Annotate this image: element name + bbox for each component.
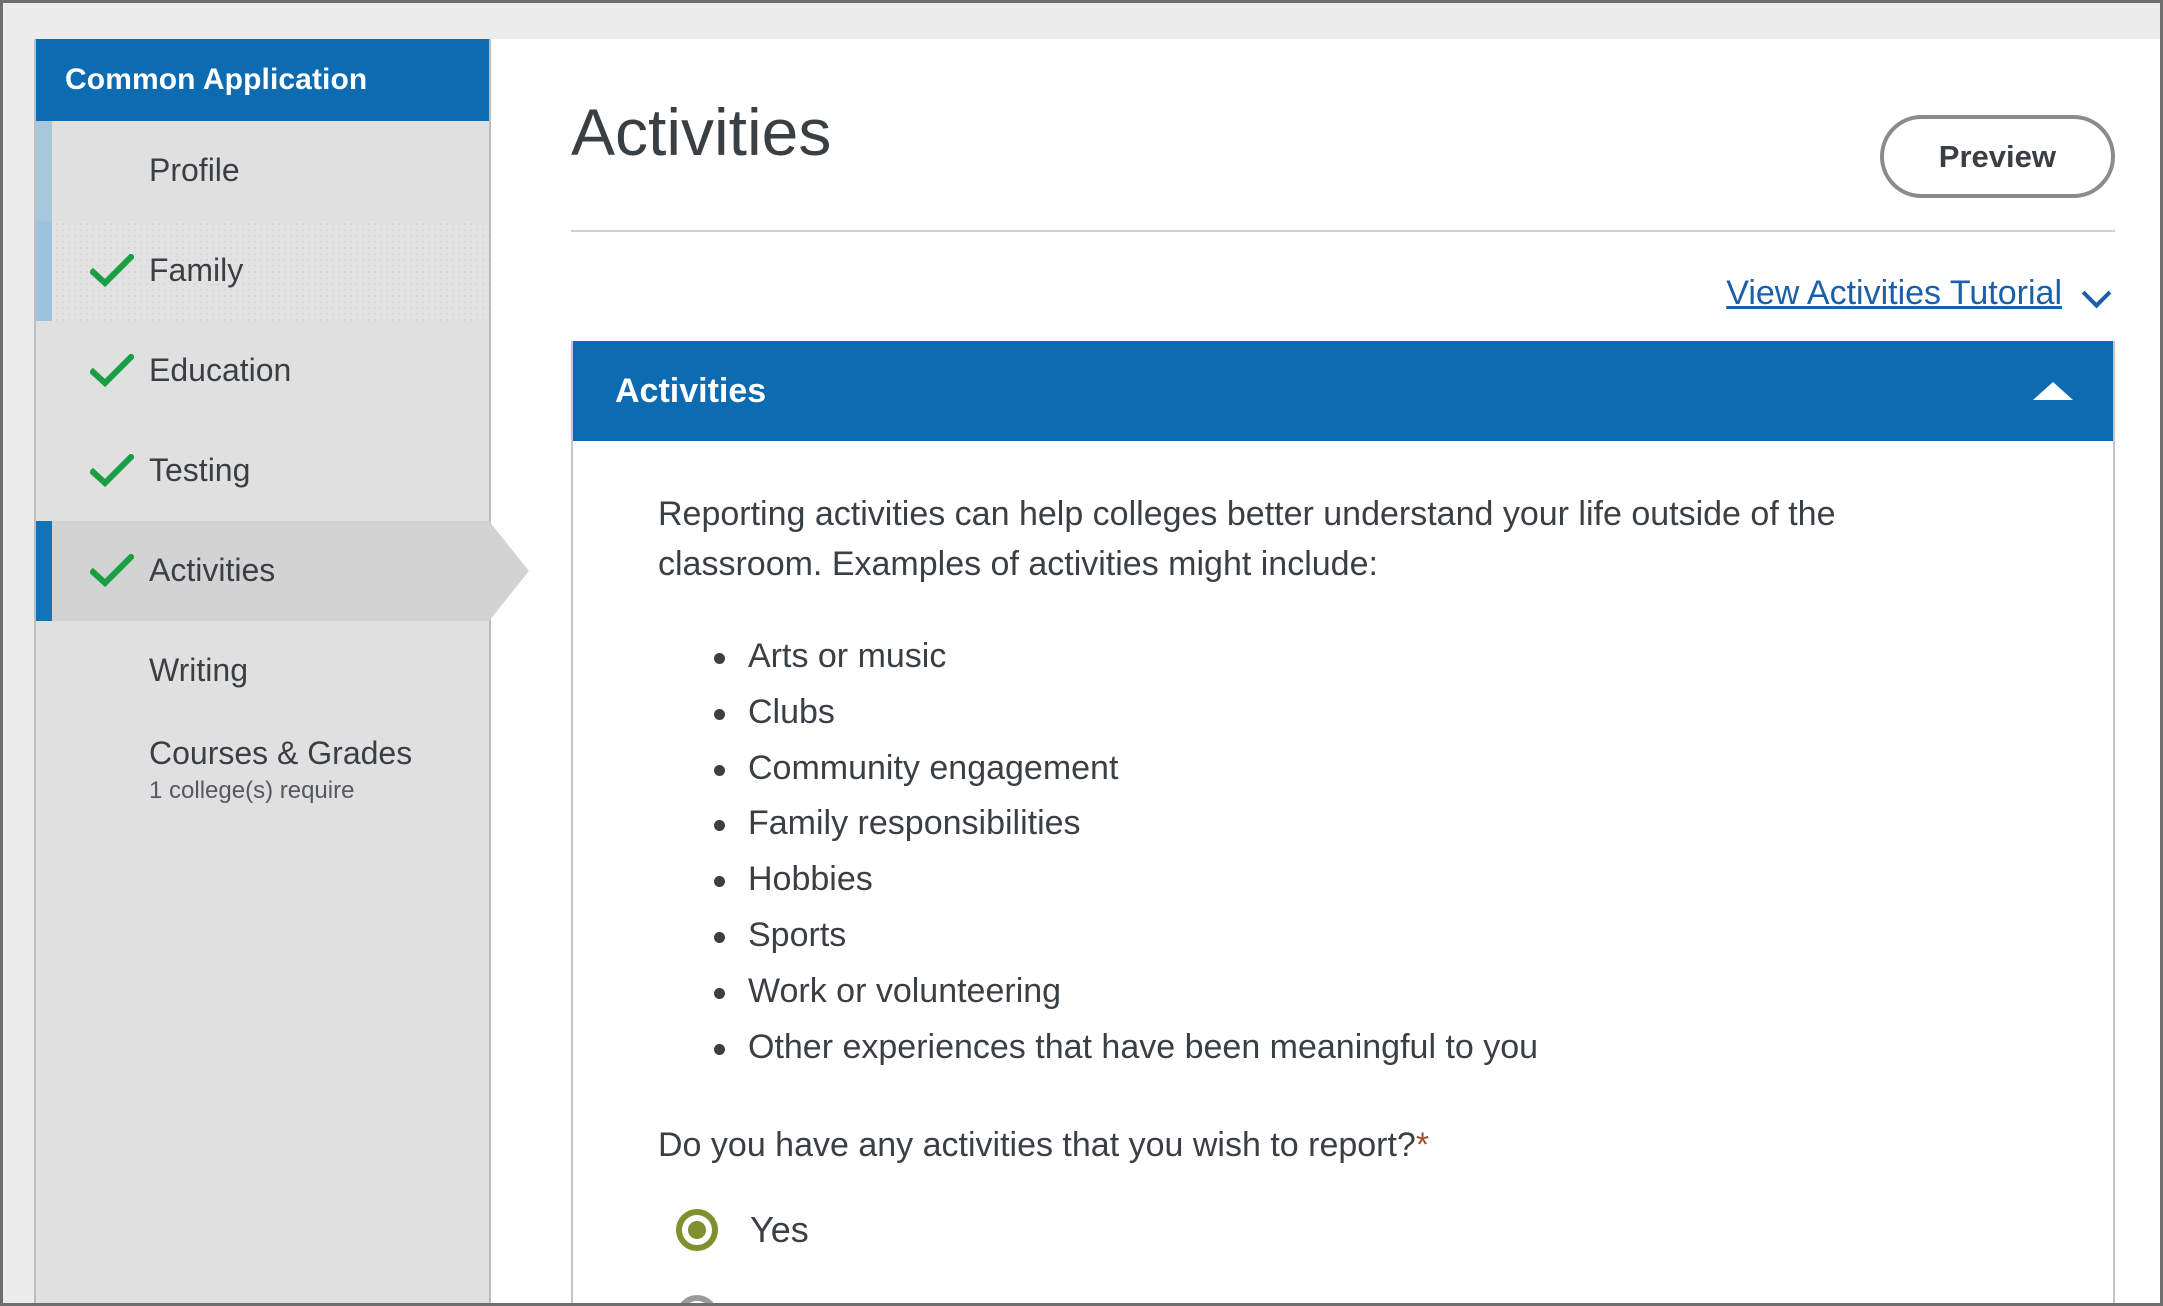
view-activities-tutorial-link[interactable]: View Activities Tutorial: [1726, 274, 2062, 313]
sidebar-item-label: Education: [149, 353, 291, 389]
example-list-item: Other experiences that have been meaning…: [708, 1023, 2053, 1072]
radio-option-no[interactable]: No: [658, 1273, 2053, 1306]
sidebar-item-label: Family: [149, 253, 243, 289]
sidebar-item-testing[interactable]: Testing: [36, 421, 489, 521]
sidebar-item-label-wrap: Testing: [149, 453, 250, 489]
sidebar-item-label-wrap: Activities: [149, 553, 275, 589]
sidebar-item-label-wrap: Education: [149, 353, 291, 389]
sidebar-item-accent-bar: [36, 621, 52, 721]
activities-panel: Activities Reporting activities can help…: [571, 341, 2115, 1306]
radio-button-yes[interactable]: [676, 1209, 718, 1251]
application-window: Common Application ProfileFamilyEducatio…: [0, 0, 2163, 1306]
sidebar-item-label: Writing: [149, 653, 248, 689]
checkmark-icon: [90, 254, 134, 288]
example-list-item: Work or volunteering: [708, 967, 2053, 1016]
sidebar-item-courses-grades[interactable]: Courses & Grades1 college(s) require: [36, 721, 489, 821]
radio-label-yes: Yes: [750, 1209, 809, 1251]
sidebar-item-family[interactable]: Family: [36, 221, 489, 321]
main-content: Activities Preview View Activities Tutor…: [489, 39, 2160, 1303]
page-header: Activities Preview: [571, 39, 2115, 198]
sidebar-item-label: Testing: [149, 453, 250, 489]
radio-label-no: No: [750, 1295, 796, 1306]
activities-panel-body: Reporting activities can help colleges b…: [573, 441, 2113, 1306]
radio-option-yes[interactable]: Yes: [658, 1187, 2053, 1273]
preview-button[interactable]: Preview: [1880, 115, 2115, 198]
sidebar-item-accent-bar: [36, 721, 52, 821]
report-radio-group: YesNo: [658, 1187, 2053, 1306]
sidebar-item-activities[interactable]: Activities: [36, 521, 489, 621]
sidebar-item-profile[interactable]: Profile: [36, 121, 489, 221]
example-list-item: Clubs: [708, 688, 2053, 737]
checkmark-icon: [90, 454, 134, 488]
sidebar-item-education[interactable]: Education: [36, 321, 489, 421]
sidebar-item-accent-bar: [36, 521, 52, 621]
chevron-down-icon[interactable]: [2084, 281, 2110, 307]
example-list-item: Hobbies: [708, 855, 2053, 904]
sidebar-item-label: Courses & Grades: [149, 736, 412, 772]
example-list-item: Community engagement: [708, 744, 2053, 793]
sidebar-item-sublabel: 1 college(s) require: [149, 777, 412, 806]
activities-panel-header[interactable]: Activities: [573, 341, 2113, 441]
report-question-text: Do you have any activities that you wish…: [658, 1126, 1416, 1164]
page-title: Activities: [571, 99, 831, 165]
sidebar-header-title: Common Application: [36, 39, 489, 121]
sidebar-item-label-wrap: Family: [149, 253, 243, 289]
example-list-item: Sports: [708, 911, 2053, 960]
sidebar-item-writing[interactable]: Writing: [36, 621, 489, 721]
sidebar-item-label-wrap: Writing: [149, 653, 248, 689]
sidebar-item-accent-bar: [36, 221, 52, 321]
sidebar-item-accent-bar: [36, 121, 52, 221]
checkmark-icon: [90, 554, 134, 588]
report-question: Do you have any activities that you wish…: [658, 1126, 2053, 1165]
sidebar-item-accent-bar: [36, 321, 52, 421]
example-list-item: Family responsibilities: [708, 799, 2053, 848]
radio-button-no[interactable]: [676, 1295, 718, 1306]
sidebar: Common Application ProfileFamilyEducatio…: [34, 39, 489, 1306]
intro-paragraph: Reporting activities can help colleges b…: [658, 489, 1888, 590]
checkmark-icon: [90, 354, 134, 388]
example-list-item: Arts or music: [708, 632, 2053, 681]
activities-panel-title: Activities: [615, 372, 766, 411]
sidebar-item-accent-bar: [36, 421, 52, 521]
sidebar-item-label-wrap: Courses & Grades1 college(s) require: [149, 736, 412, 806]
triangle-up-icon[interactable]: [2033, 382, 2073, 400]
sidebar-nav: ProfileFamilyEducationTestingActivitiesW…: [36, 121, 489, 821]
sidebar-item-label: Profile: [149, 153, 240, 189]
examples-list: Arts or musicClubsCommunity engagementFa…: [658, 632, 2053, 1073]
tutorial-row: View Activities Tutorial: [571, 232, 2115, 341]
sidebar-item-label-wrap: Profile: [149, 153, 240, 189]
required-asterisk: *: [1416, 1126, 1429, 1164]
sidebar-item-label: Activities: [149, 553, 275, 589]
